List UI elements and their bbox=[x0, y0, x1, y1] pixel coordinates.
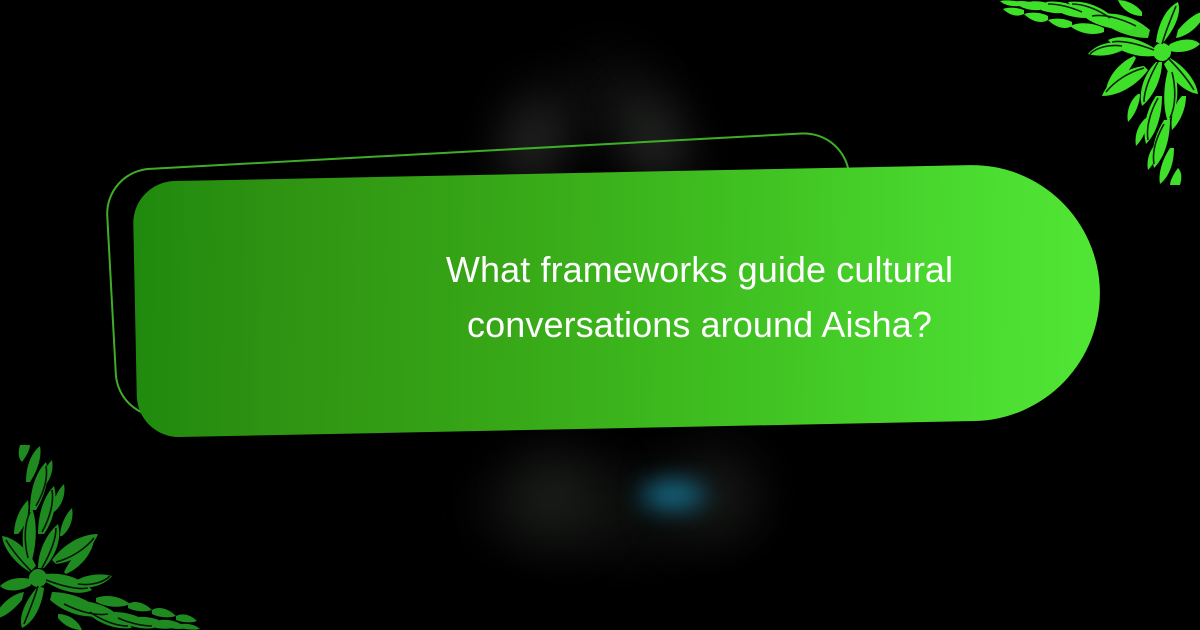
floral-ornament-top-right-icon bbox=[990, 0, 1200, 185]
watermark-blob-bottom-fog bbox=[430, 450, 790, 570]
question-text: What frameworks guide cultural conversat… bbox=[446, 243, 953, 352]
watermark-blob-top-center bbox=[545, 40, 675, 150]
watermark-accent-glow bbox=[636, 476, 710, 514]
poster-canvas: What frameworks guide cultural conversat… bbox=[0, 0, 1200, 630]
floral-ornament-bottom-left-icon bbox=[0, 445, 200, 630]
watermark-blob-bottom-left bbox=[474, 422, 626, 569]
question-card[interactable]: What frameworks guide cultural conversat… bbox=[132, 163, 1102, 438]
watermark-blob-bottom-right bbox=[642, 419, 787, 567]
